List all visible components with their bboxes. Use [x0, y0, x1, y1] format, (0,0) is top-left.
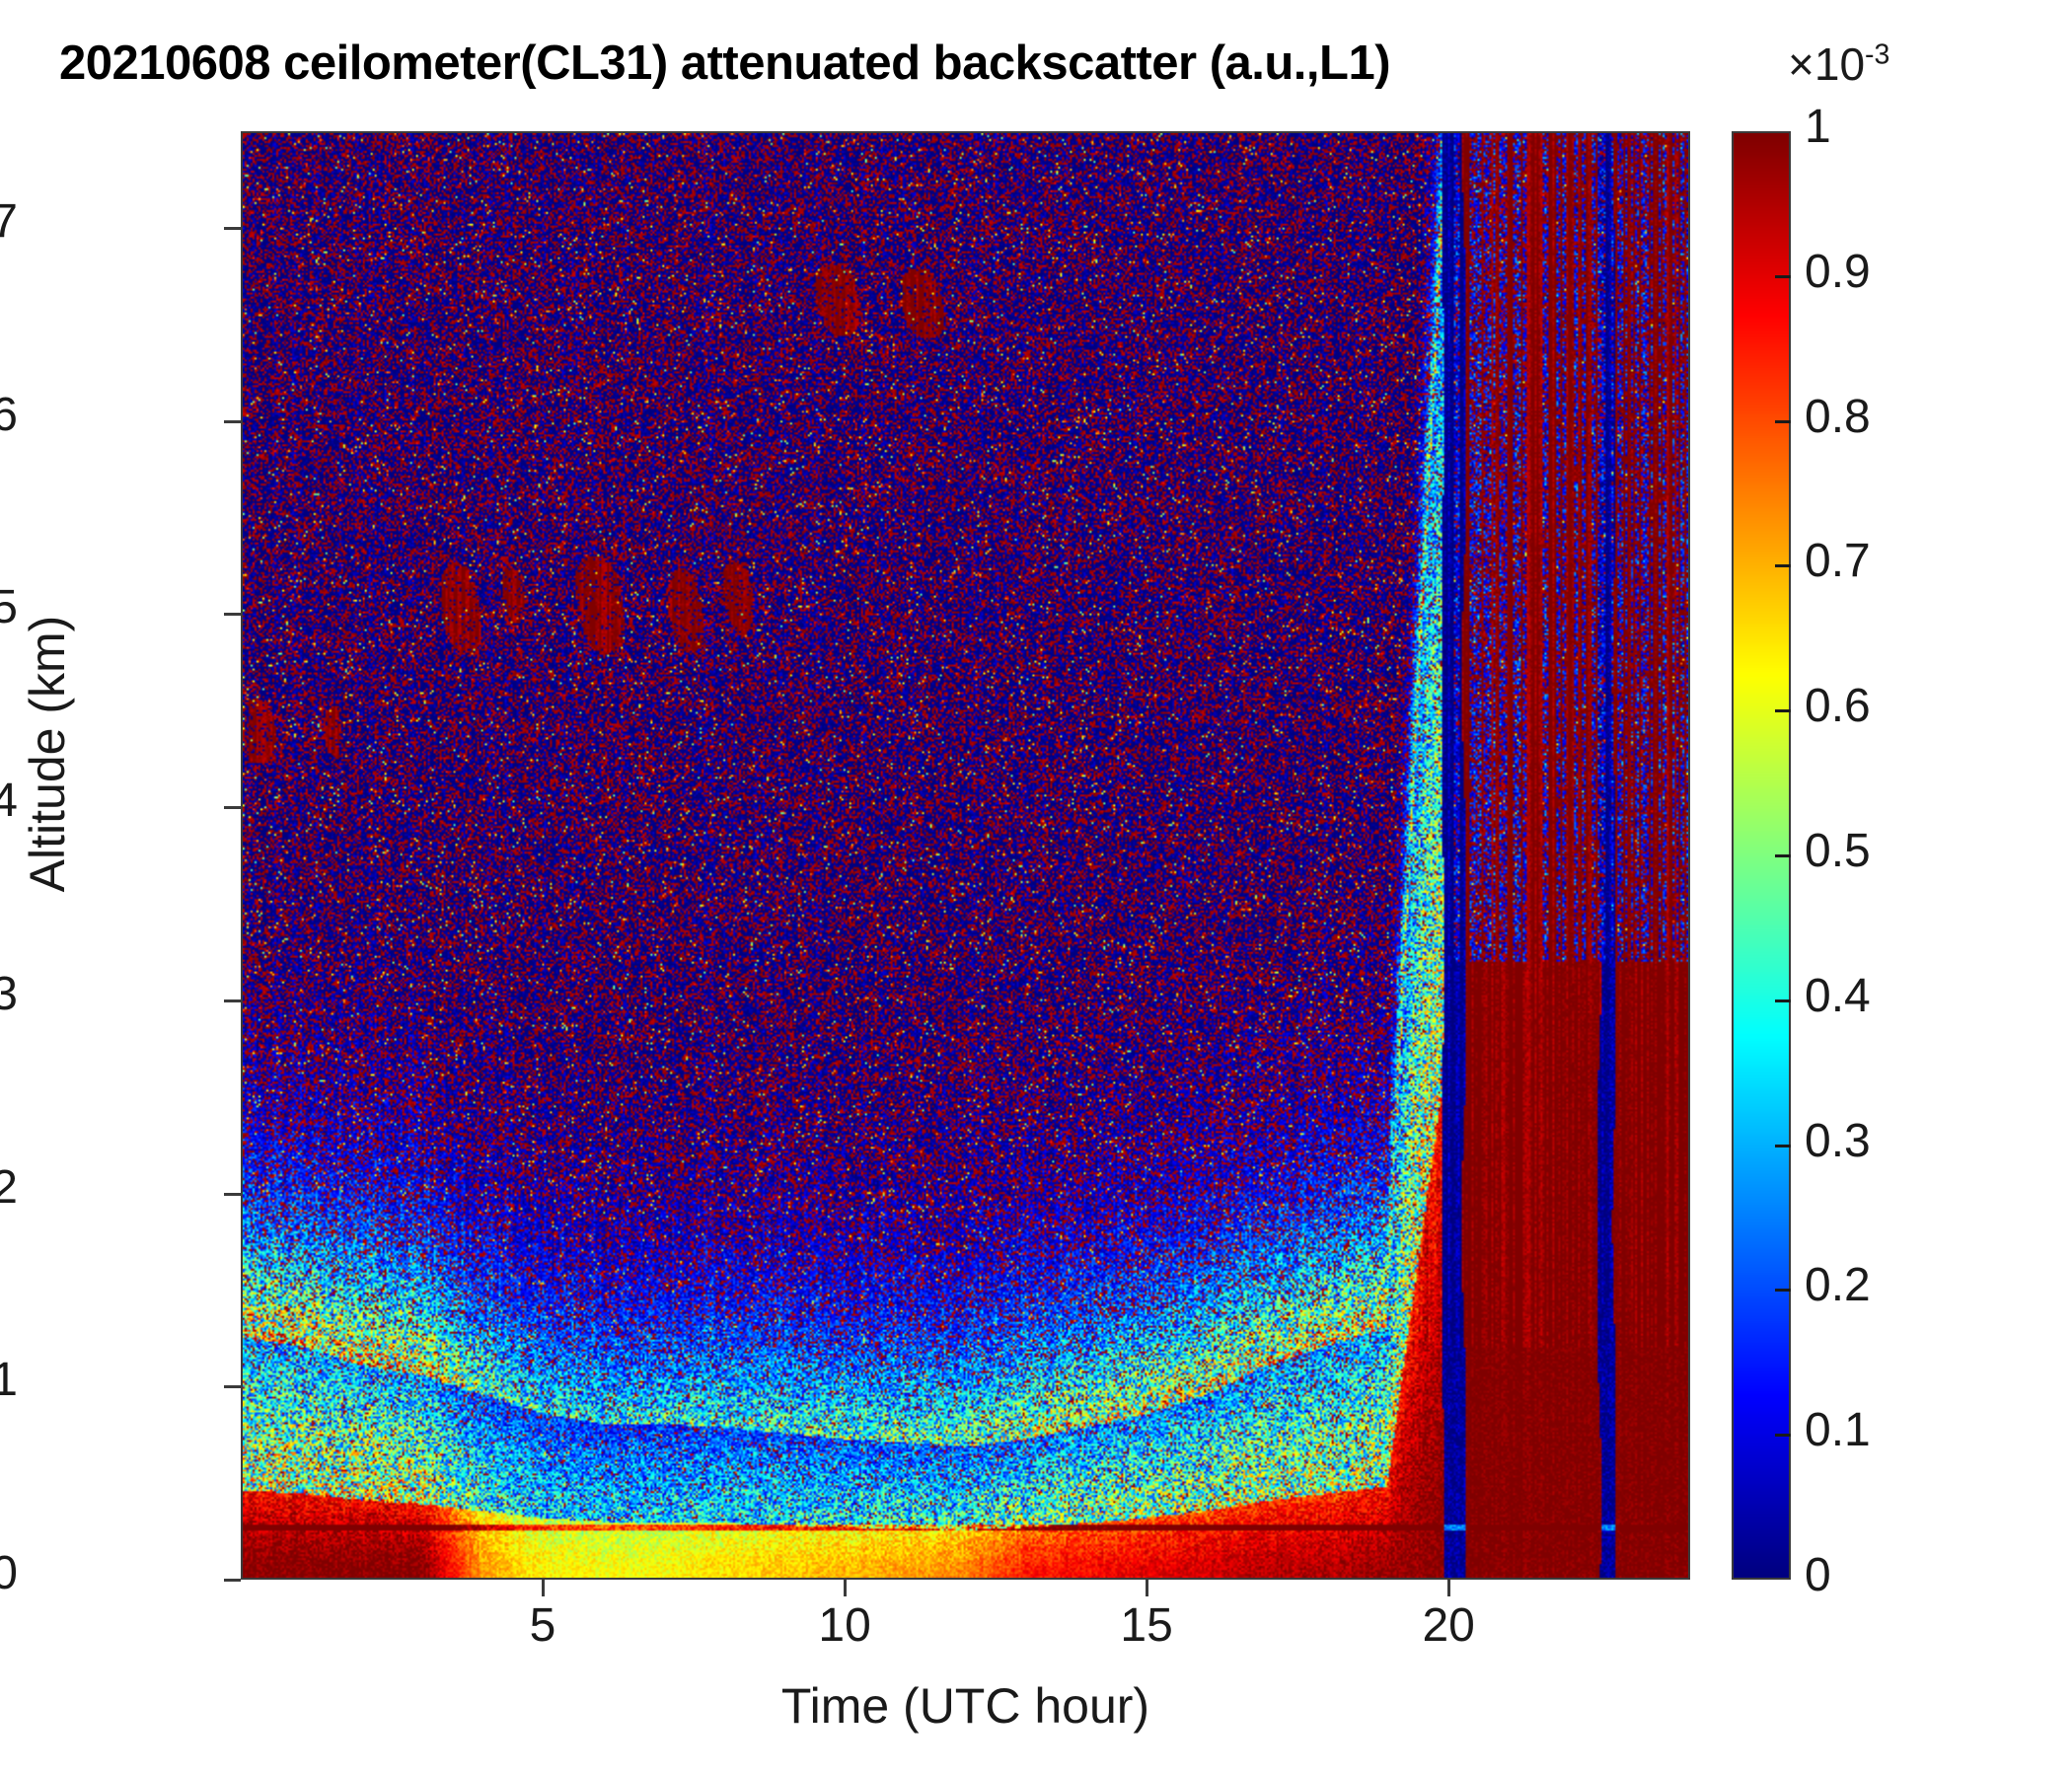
y-axis-label: Altitude (km)	[19, 487, 76, 1020]
colorbar-tick-mark	[1775, 275, 1791, 278]
figure-canvas: 20210608 ceilometer(CL31) attenuated bac…	[0, 0, 2072, 1776]
y-tick-label: 3	[0, 971, 18, 1018]
colorbar-tick-mark	[1775, 1289, 1791, 1292]
colorbar-tick-mark	[1775, 420, 1791, 423]
colorbar-exponent: ×10-3	[1788, 37, 1889, 91]
colorbar-tick-mark	[1775, 564, 1791, 567]
colorbar-tick-label: 0.1	[1805, 1407, 1871, 1454]
colorbar-tick-mark	[1775, 999, 1791, 1002]
y-tick-mark	[224, 613, 241, 616]
colorbar-tick-mark	[1775, 1434, 1791, 1437]
y-tick-label: 6	[0, 392, 18, 439]
y-tick-mark	[224, 806, 241, 809]
x-tick-mark	[542, 1580, 545, 1596]
x-tick-mark	[844, 1580, 847, 1596]
colorbar-tick-label: 0.6	[1805, 683, 1871, 730]
x-tick-label: 5	[483, 1602, 602, 1650]
colorbar: 00.10.20.30.40.50.60.70.80.91	[1732, 131, 1791, 1580]
colorbar-tick-label: 0.5	[1805, 828, 1871, 875]
colorbar-tick-label: 0.9	[1805, 249, 1871, 296]
colorbar-tick-label: 0.4	[1805, 973, 1871, 1020]
x-tick-label: 20	[1389, 1602, 1508, 1650]
y-tick-mark	[224, 1193, 241, 1196]
y-tick-mark	[224, 1579, 241, 1582]
y-tick-mark	[224, 999, 241, 1002]
y-tick-mark	[224, 420, 241, 423]
colorbar-exponent-base: ×10	[1788, 38, 1865, 90]
y-tick-label: 2	[0, 1164, 18, 1212]
colorbar-tick-label: 0.3	[1805, 1118, 1871, 1165]
x-tick-mark	[1447, 1580, 1450, 1596]
colorbar-tick-mark	[1775, 854, 1791, 857]
colorbar-tick-mark	[1775, 709, 1791, 712]
page-title: 20210608 ceilometer(CL31) attenuated bac…	[59, 36, 1390, 91]
y-tick-label: 1	[0, 1357, 18, 1404]
colorbar-tick-mark	[1775, 1145, 1791, 1147]
y-tick-label: 0	[0, 1550, 18, 1597]
colorbar-exponent-power: -3	[1865, 39, 1889, 71]
y-tick-mark	[224, 227, 241, 230]
colorbar-tick-label: 0.8	[1805, 394, 1871, 441]
backscatter-heatmap	[243, 133, 1688, 1578]
y-tick-label: 7	[0, 198, 18, 246]
y-tick-label: 5	[0, 584, 18, 631]
colorbar-tick-label: 0	[1805, 1552, 1831, 1599]
colorbar-tick-label: 0.7	[1805, 538, 1871, 585]
heatmap-plot-area	[241, 131, 1690, 1580]
colorbar-tick-label: 1	[1805, 104, 1831, 151]
x-tick-label: 10	[785, 1602, 904, 1650]
y-tick-label: 4	[0, 777, 18, 825]
x-tick-mark	[1146, 1580, 1148, 1596]
x-axis-label: Time (UTC hour)	[241, 1677, 1690, 1735]
y-tick-mark	[224, 1385, 241, 1388]
colorbar-tick-label: 0.2	[1805, 1262, 1871, 1309]
x-tick-label: 15	[1087, 1602, 1206, 1650]
